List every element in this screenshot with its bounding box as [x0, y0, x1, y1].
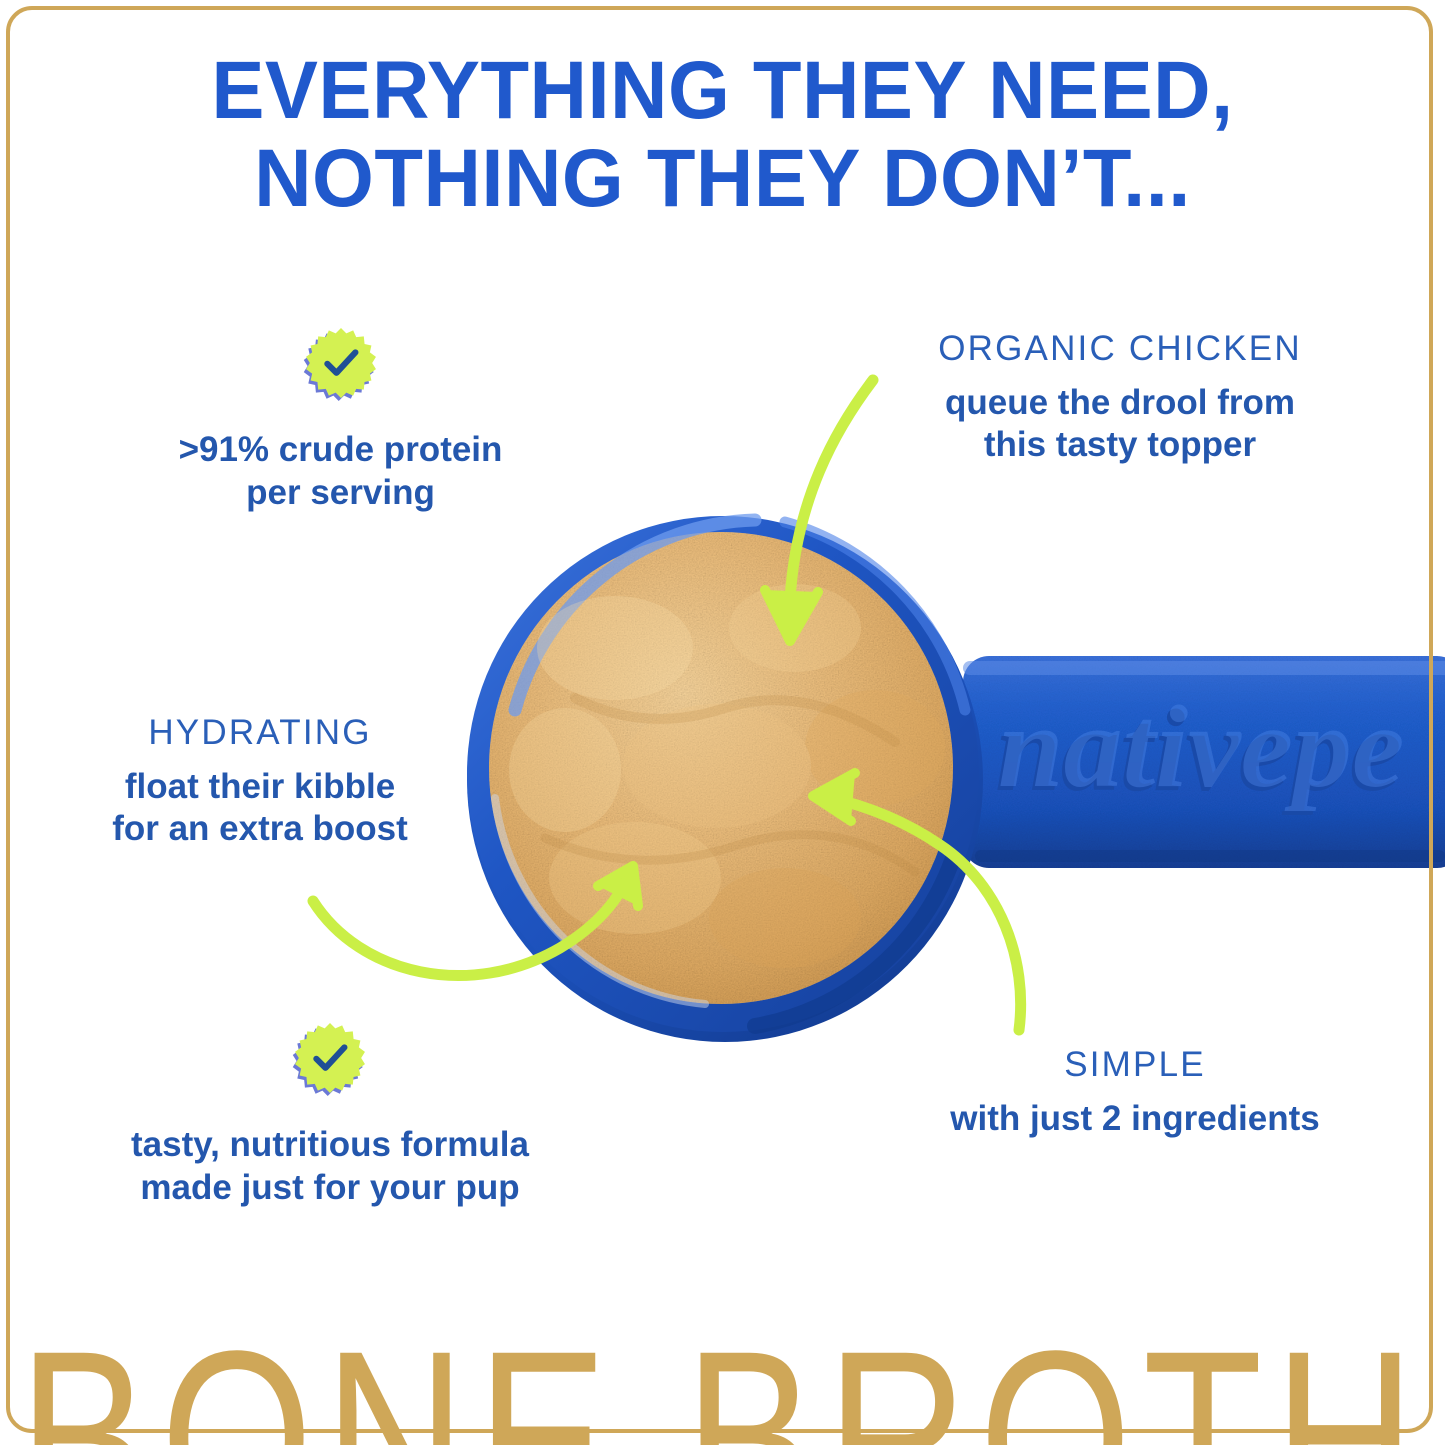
callout-hydrating-kicker: HYDRATING [40, 714, 480, 753]
callout-simple-text: with just 2 ingredients [925, 1098, 1345, 1141]
product-photo-scoop: nativepe nativepe [455, 498, 1445, 1058]
scoop-handle: nativepe nativepe [963, 656, 1445, 868]
product-wordmark: BONE BROTH [0, 1315, 1445, 1445]
callout-protein-text: >91% crude protein per serving [128, 428, 553, 515]
badge-wrap-tasty [70, 1015, 590, 1101]
product-infographic: EVERYTHING THEY NEED, NOTHING THEY DON’T… [0, 0, 1445, 1445]
headline-line-1: EVERYTHING THEY NEED, [211, 45, 1233, 136]
check-badge-icon [292, 1020, 368, 1096]
callout-simple-kicker: SIMPLE [925, 1046, 1345, 1085]
handle-embossed-wordmark: nativepe nativepe [995, 681, 1404, 816]
callout-hydrating: HYDRATING float their kibble for an extr… [40, 714, 480, 851]
callout-tasty-text: tasty, nutritious formula made just for … [70, 1123, 590, 1210]
callout-organic-chicken-kicker: ORGANIC CHICKEN [865, 330, 1375, 369]
callout-protein: >91% crude protein per serving [128, 320, 553, 515]
page-title: EVERYTHING THEY NEED, NOTHING THEY DON’T… [22, 52, 1424, 218]
badge-wrap-protein [128, 320, 553, 406]
svg-text:nativepe: nativepe [998, 681, 1404, 812]
headline-line-2: NOTHING THEY DON’T... [22, 140, 1424, 218]
scoop-cup [467, 516, 983, 1042]
callout-hydrating-text: float their kibble for an extra boost [40, 766, 480, 851]
check-badge-icon [303, 325, 379, 401]
callout-simple: SIMPLE with just 2 ingredients [925, 1046, 1345, 1140]
callout-organic-chicken-text: queue the drool from this tasty topper [865, 382, 1375, 467]
callout-organic-chicken: ORGANIC CHICKEN queue the drool from thi… [865, 330, 1375, 467]
callout-tasty: tasty, nutritious formula made just for … [70, 1015, 590, 1210]
